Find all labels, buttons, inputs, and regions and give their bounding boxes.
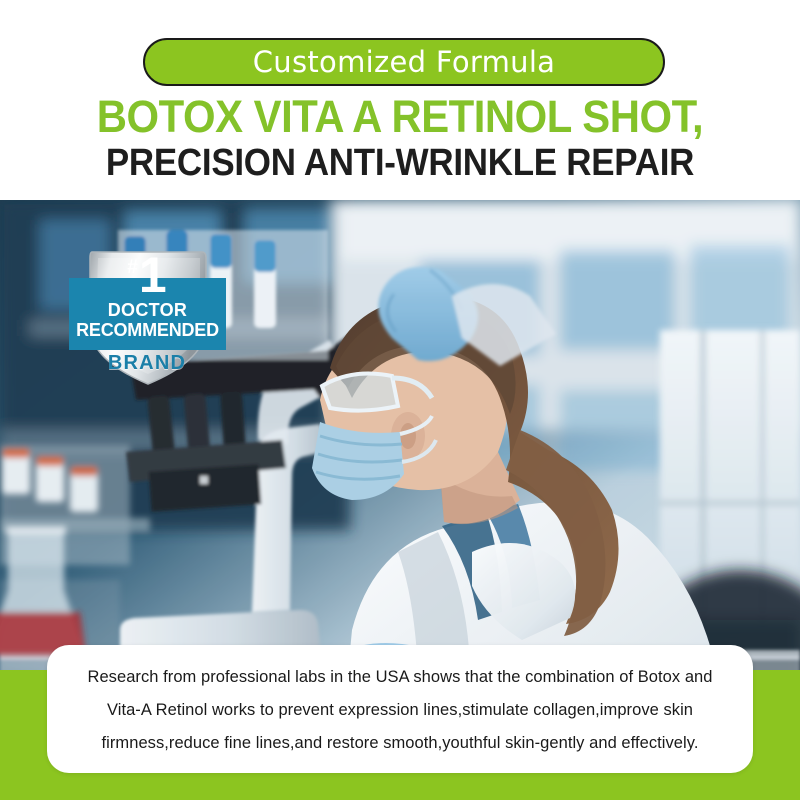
badge-line-doctor: DOCTOR [69, 300, 226, 320]
badge-line-recommended: RECOMMENDED [69, 320, 226, 340]
hash-symbol: # [127, 257, 138, 278]
poster-header: Customized Formula BOTOX VITA A RETINOL … [0, 0, 800, 200]
customized-formula-pill: Customized Formula [143, 38, 665, 86]
page-title: BOTOX VITA A RETINOL SHOT, [28, 93, 772, 140]
description-line-2: Vita-A Retinol works to prevent expressi… [69, 694, 731, 727]
page-subtitle: PRECISION ANTI-WRINKLE REPAIR [32, 143, 768, 185]
description-card: Research from professional labs in the U… [47, 645, 753, 773]
customized-formula-label: Customized Formula [253, 48, 556, 77]
badge-brand-word: BRAND [52, 352, 242, 375]
rank-number: 1 [139, 247, 166, 303]
badge-rank: #1 [52, 250, 242, 300]
product-poster: Customized Formula BOTOX VITA A RETINOL … [0, 0, 800, 800]
description-line-1: Research from professional labs in the U… [69, 661, 731, 694]
description-line-3: firmness,reduce fine lines,and restore s… [69, 727, 731, 760]
badge-banner-text: DOCTOR RECOMMENDED [69, 300, 226, 340]
doctor-recommended-badge: #1 DOCTOR RECOMMENDED BRAND [52, 248, 242, 390]
